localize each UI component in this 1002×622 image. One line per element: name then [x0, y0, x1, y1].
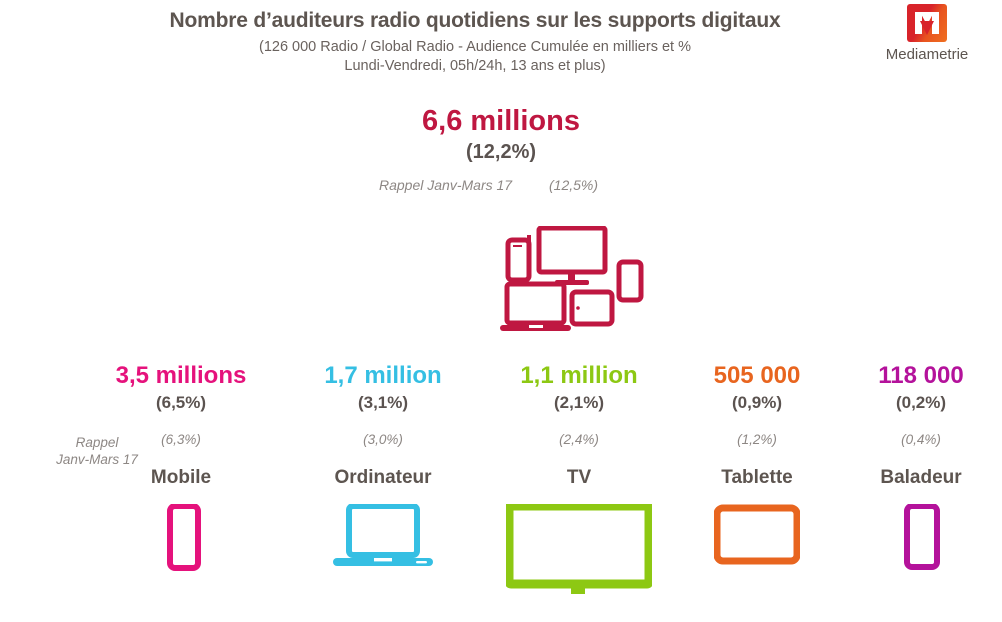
title-block: Nombre d’auditeurs radio quotidiens sur …: [60, 8, 890, 76]
mobile-label: Mobile: [81, 466, 281, 490]
logo-arrow: [920, 21, 934, 35]
column-baladeur: 118 000 (0,2%) (0,4%) Baladeur: [821, 362, 1002, 596]
page-header: Nombre d’auditeurs radio quotidiens sur …: [0, 0, 1002, 92]
tv-value: 1,1 million: [479, 362, 679, 390]
device-columns: Rappel Janv-Mars 17 3,5 millions (6,5%) …: [0, 362, 1002, 622]
total-percent: (12,2%): [0, 139, 1002, 165]
subtitle-line-2: Lundi-Vendredi, 05h/24h, 13 ans et plus): [60, 57, 890, 76]
total-recall-label: Rappel Janv-Mars 17: [379, 177, 512, 193]
multi-device-cluster-icon: [499, 226, 659, 338]
mobile-value: 3,5 millions: [81, 362, 281, 390]
baladeur-recall-percent: (0,4%): [821, 431, 1002, 448]
television-icon: [479, 504, 679, 596]
baladeur-label: Baladeur: [821, 466, 1002, 490]
total-recall-percent: (12,5%): [549, 177, 598, 193]
brand-name: Mediametrie: [868, 46, 986, 63]
column-tv: 1,1 million (2,1%) (2,4%) TV: [479, 362, 679, 596]
mobile-percent: (6,5%): [81, 392, 281, 414]
laptop-icon: [283, 504, 483, 596]
ordinateur-label: Ordinateur: [283, 466, 483, 490]
subtitle-line-1: (126 000 Radio / Global Radio - Audience…: [60, 38, 890, 57]
baladeur-percent: (0,2%): [821, 392, 1002, 414]
page-title: Nombre d’auditeurs radio quotidiens sur …: [60, 8, 890, 34]
column-mobile: 3,5 millions (6,5%) (6,3%) Mobile: [81, 362, 281, 596]
mp3-player-icon: [821, 504, 1002, 596]
ordinateur-percent: (3,1%): [283, 392, 483, 414]
tv-label: TV: [479, 466, 679, 490]
baladeur-value: 118 000: [821, 362, 1002, 390]
tv-percent: (2,1%): [479, 392, 679, 414]
smartphone-icon: [81, 504, 281, 596]
total-recall-row: Rappel Janv-Mars 17 (12,5%): [0, 177, 1002, 197]
total-audience-block: 6,6 millions (12,2%) Rappel Janv-Mars 17…: [0, 104, 1002, 197]
total-value: 6,6 millions: [0, 104, 1002, 138]
mobile-recall-percent: (6,3%): [81, 431, 281, 448]
ordinateur-recall-percent: (3,0%): [283, 431, 483, 448]
tv-recall-percent: (2,4%): [479, 431, 679, 448]
ordinateur-value: 1,7 million: [283, 362, 483, 390]
page-subtitle: (126 000 Radio / Global Radio - Audience…: [60, 38, 890, 76]
mediametrie-m-logo-icon: [907, 4, 947, 42]
brand-logo: Mediametrie: [868, 4, 986, 63]
column-ordinateur: 1,7 million (3,1%) (3,0%) Ordinateur: [283, 362, 483, 596]
